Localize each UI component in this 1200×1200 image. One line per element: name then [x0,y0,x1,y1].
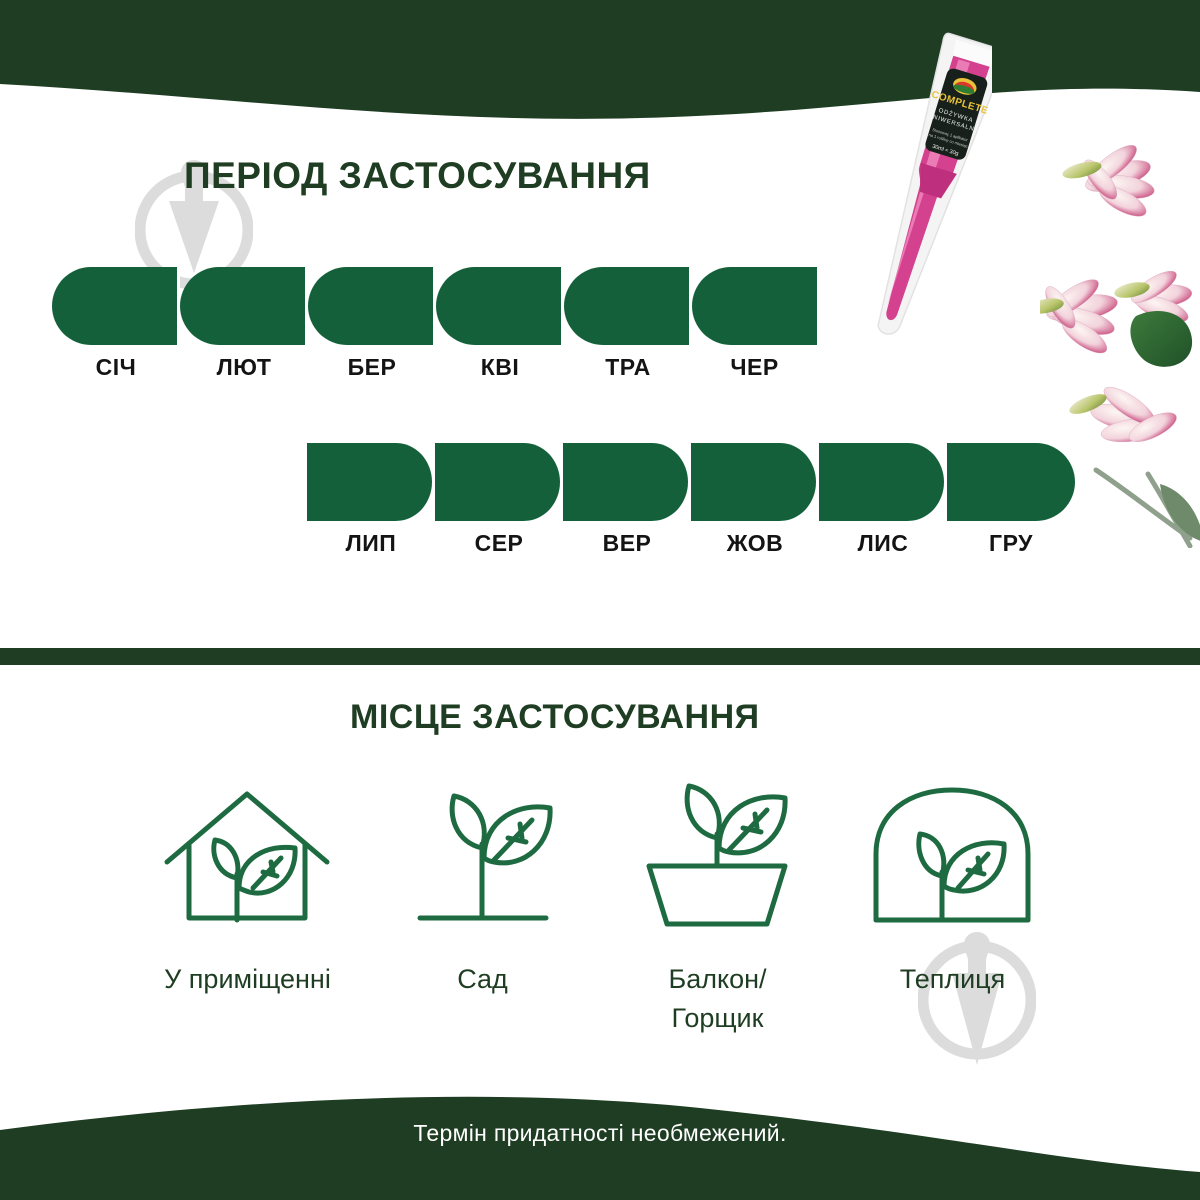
place-label: Теплиця [900,960,1006,999]
house-plant-icon [155,778,340,938]
place-item-indoor: У приміщенні [130,778,365,1038]
section-divider-bar [0,648,1200,665]
month-cell: СЕР [435,443,563,557]
place-label: У приміщенні [164,960,331,999]
month-label: КВІ [436,354,564,381]
month-segment [436,267,564,345]
month-cell: БЕР [308,267,436,381]
month-label: ВЕР [563,530,691,557]
place-item-balcony-pot: Балкон/ Горщик [600,778,835,1038]
month-label: ТРА [564,354,692,381]
month-cell: ЛЮТ [180,267,308,381]
month-cell: ТРА [564,267,692,381]
month-label: СЕР [435,530,563,557]
month-segment [563,443,691,521]
month-segment [435,443,563,521]
place-of-use-grid: У приміщенні Сад [130,778,1070,1038]
month-cell: ЧЕР [692,267,817,381]
month-cell: ЛИС [819,443,947,557]
top-green-band [0,0,1200,130]
month-cell: ГРУ [947,443,1075,557]
month-segment [692,267,817,345]
month-cell: ВЕР [563,443,691,557]
month-cell: КВІ [436,267,564,381]
month-segment [691,443,819,521]
page-title-period: ПЕРІОД ЗАСТОСУВАННЯ [184,155,651,197]
month-label: ЛИС [819,530,947,557]
place-item-garden: Сад [365,778,600,1038]
place-label: Сад [457,960,508,999]
month-label: ЛЮТ [180,354,308,381]
greenhouse-plant-icon [860,778,1045,938]
month-label: ЖОВ [691,530,819,557]
month-segment [52,267,180,345]
garden-plant-icon [390,778,575,938]
month-cell: ЛИП [307,443,435,557]
month-bar-row-first-half: СІЧ ЛЮТ БЕР КВІ ТРА ЧЕР [52,267,817,381]
month-label: ЧЕР [692,354,817,381]
footer-note: Термін придатності необмежений. [0,1120,1200,1147]
month-cell: СІЧ [52,267,180,381]
place-label: Балкон/ Горщик [668,960,766,1038]
infographic-canvas: COMPLETE ODŻYWKA UNIWERSALNA Stosowaç 1 … [0,0,1200,1200]
month-segment [819,443,947,521]
month-segment [308,267,436,345]
page-title-place: МІСЦЕ ЗАСТОСУВАННЯ [350,698,760,737]
month-cell: ЖОВ [691,443,819,557]
month-segment [180,267,308,345]
potted-plant-icon [625,778,810,938]
month-bar-row-second-half: ЛИП СЕР ВЕР ЖОВ ЛИС ГРУ [307,443,1075,557]
month-label: СІЧ [52,354,180,381]
month-segment [564,267,692,345]
month-label: ЛИП [307,530,435,557]
month-label: БЕР [308,354,436,381]
place-item-greenhouse: Теплиця [835,778,1070,1038]
month-label: ГРУ [947,530,1075,557]
month-segment [947,443,1075,521]
month-segment [307,443,435,521]
product-package: COMPLETE ODŻYWKA UNIWERSALNA Stosowaç 1 … [862,28,992,358]
